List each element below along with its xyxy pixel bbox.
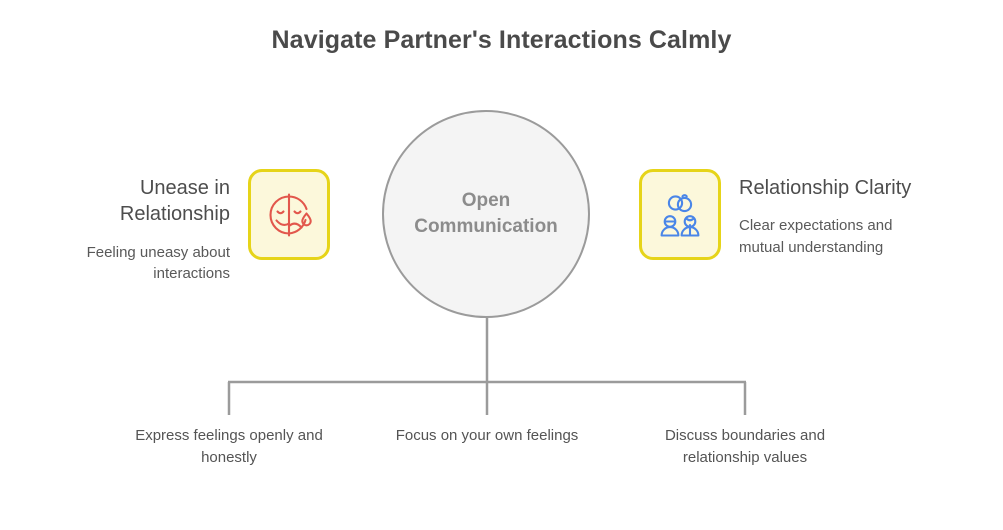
branch-right-heading: Relationship Clarity [739,175,939,201]
center-node-label: Open Communication [406,188,566,239]
page-title: Navigate Partner's Interactions Calmly [0,26,1003,55]
branch-right-text: Relationship Clarity Clear expectations … [739,169,989,258]
branch-left-description: Feeling uneasy about interactions [30,242,230,285]
branch-left-heading: Unease in Relationship [30,175,230,228]
branch-left-icon-box[interactable] [248,169,330,260]
center-node[interactable]: Open Communication [382,110,590,318]
branch-right[interactable]: Relationship Clarity Clear expectations … [639,169,989,260]
caption-express-feelings: Express feelings openly and honestly [109,425,349,469]
branch-right-icon-box[interactable] [639,169,721,260]
branch-right-description: Clear expectations and mutual understand… [739,215,939,258]
diagram-canvas: Navigate Partner's Interactions Calmly O… [0,0,1003,530]
branch-left-text: Unease in Relationship Feeling uneasy ab… [14,169,230,284]
caption-discuss-boundaries: Discuss boundaries and relationship valu… [625,425,865,469]
branch-left[interactable]: Unease in Relationship Feeling uneasy ab… [14,169,330,284]
caption-focus-own-feelings: Focus on your own feelings [387,425,587,447]
two-people-rings-icon [656,191,704,239]
sad-happy-face-icon [265,191,313,239]
